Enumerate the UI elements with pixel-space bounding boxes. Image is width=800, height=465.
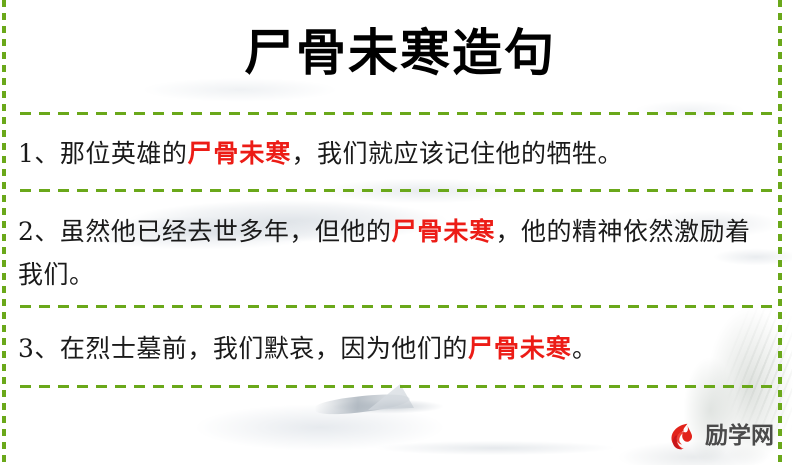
site-logo[interactable]: 励学网 — [664, 419, 774, 453]
sentence-1-after: ，我们就应该记住他的牺牲。 — [291, 139, 623, 168]
sentence-item-2: 2、虽然他已经去世多年，但他的尸骨未寒，他的精神依然激励着我们。 — [18, 210, 774, 296]
ink-wash-watermark-right-upper — [610, 80, 770, 140]
page-title: 尸骨未寒造句 — [0, 22, 800, 84]
divider-after-sentence-1 — [20, 189, 780, 192]
sentence-1-idiom-highlight: 尸骨未寒 — [187, 139, 291, 168]
divider-after-sentence-3 — [20, 385, 780, 388]
sentence-1-number: 1、 — [18, 139, 60, 168]
sentence-2-idiom-highlight: 尸骨未寒 — [391, 217, 495, 246]
sentence-3-number: 3、 — [18, 334, 60, 363]
divider-below-title — [20, 112, 780, 115]
sentence-item-3: 3、在烈士墓前，我们默哀，因为他们的尸骨未寒。 — [18, 327, 774, 370]
ink-wash-boat-watermark — [140, 390, 540, 465]
sentence-1-before: 那位英雄的 — [60, 139, 188, 168]
sentence-3-before: 在烈士墓前，我们默哀，因为他们的 — [60, 334, 468, 363]
sentence-2-before: 虽然他已经去世多年，但他的 — [60, 217, 392, 246]
sentence-2-number: 2、 — [18, 217, 60, 246]
red-swirl-flame-logo-icon — [664, 419, 698, 453]
document-page: 尸骨未寒造句 1、那位英雄的尸骨未寒，我们就应该记住他的牺牲。 2、虽然他已经去… — [0, 0, 800, 465]
ink-wash-watermark-bottom — [330, 435, 630, 461]
divider-after-sentence-2 — [20, 305, 780, 308]
left-dashed-border — [2, 0, 6, 465]
sentence-3-after: 。 — [572, 334, 598, 363]
sentence-item-1: 1、那位英雄的尸骨未寒，我们就应该记住他的牺牲。 — [18, 132, 774, 175]
sentence-3-idiom-highlight: 尸骨未寒 — [468, 334, 572, 363]
site-logo-text: 励学网 — [705, 423, 774, 449]
right-dashed-border — [778, 0, 782, 465]
